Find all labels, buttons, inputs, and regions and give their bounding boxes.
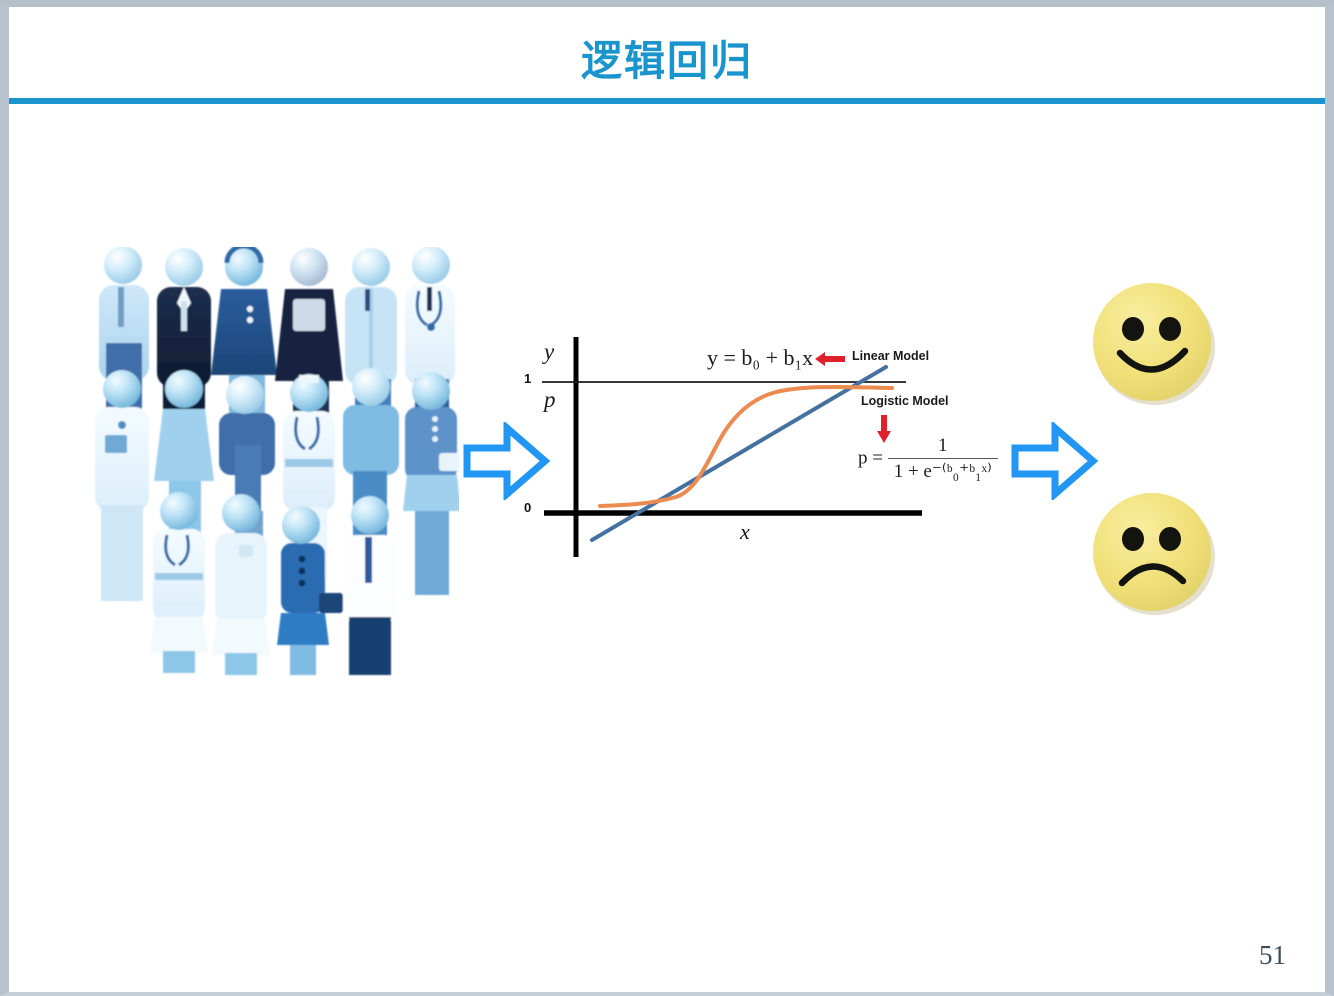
formula-numerator: 1 (888, 435, 998, 459)
slide-canvas: 逻辑回归 (0, 0, 1334, 996)
linear-model-equation: y = b₀ + b₁x (707, 345, 813, 371)
arrow-chart-to-outcome (1009, 422, 1099, 505)
logistic-model-curve (600, 387, 892, 506)
population-illustration (87, 247, 459, 677)
page-title: 逻辑回归 (9, 41, 1325, 82)
smiley-sad-icon (1089, 489, 1217, 617)
logistic-formula-fraction: 1 1 + e⁻⁽ᵇ₀⁺ᵇ₁ˣ⁾ (888, 435, 998, 483)
x-axis-label: x (740, 519, 750, 545)
logistic-formula-lhs: p = (858, 447, 883, 468)
formula-denominator: 1 + e⁻⁽ᵇ₀⁺ᵇ₁ˣ⁾ (888, 459, 998, 483)
title-divider (9, 98, 1325, 104)
page-number: 51 (1259, 940, 1286, 971)
linear-equation-text: y = b₀ + b₁x (707, 345, 813, 370)
smiley-happy (1089, 279, 1217, 407)
y-tick-zero: 0 (524, 500, 531, 515)
logistic-model-formula: p = 1 1 + e⁻⁽ᵇ₀⁺ᵇ₁ˣ⁾ (858, 435, 998, 483)
logistic-model-caption: Logistic Model (861, 394, 949, 408)
linear-model-red-arrow-icon (815, 350, 845, 368)
people-crowd-graphic (87, 247, 459, 677)
p-axis-label: p (544, 387, 556, 413)
y-tick-one: 1 (524, 371, 531, 386)
y-axis-label: y (544, 339, 554, 365)
smiley-happy-icon (1089, 279, 1217, 407)
linear-model-caption: Linear Model (852, 349, 929, 363)
smiley-sad (1089, 489, 1217, 617)
slide-header: 逻辑回归 (9, 7, 1325, 105)
